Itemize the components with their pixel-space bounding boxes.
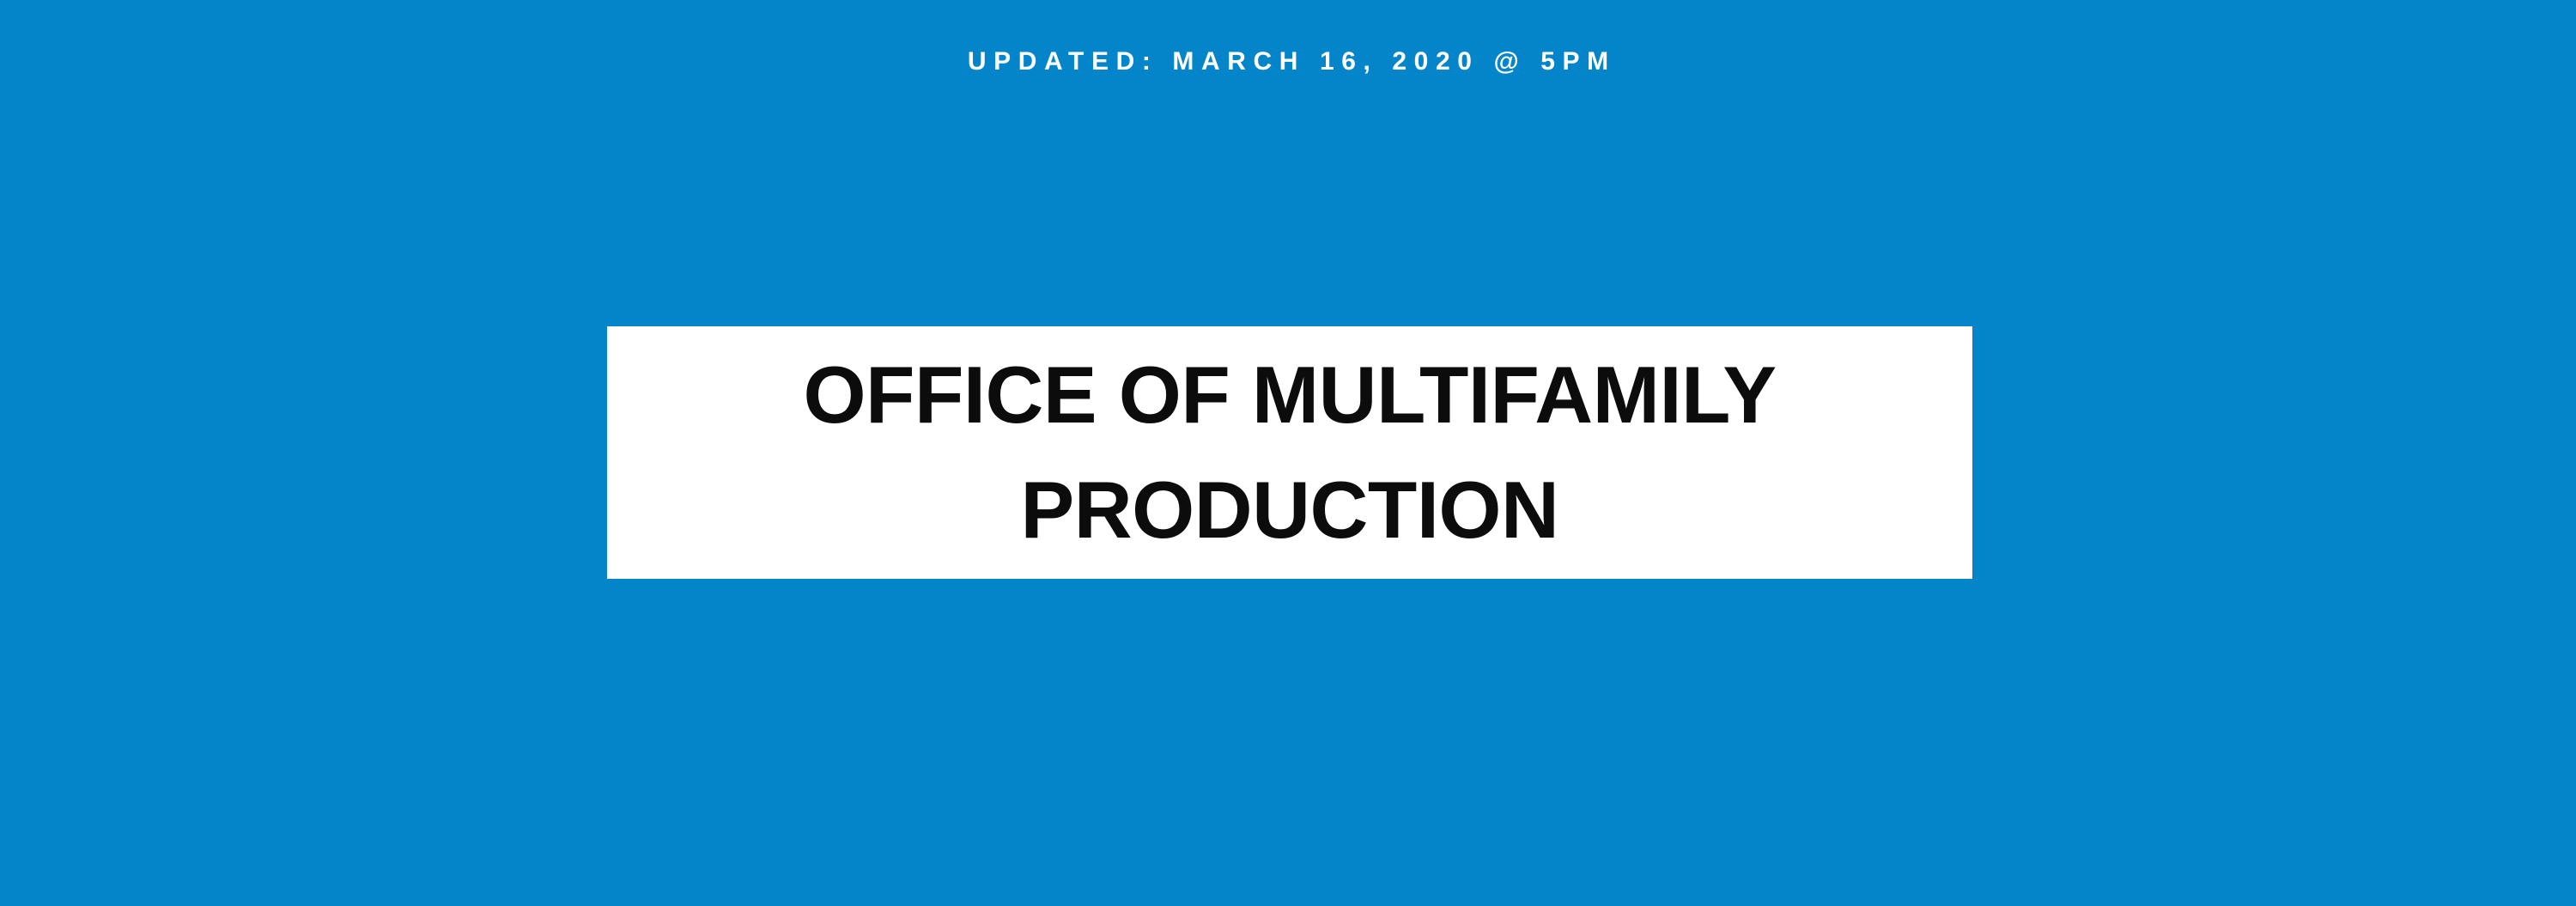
title-card: OFFICE OF MULTIFAMILY PRODUCTION xyxy=(607,326,1972,579)
updated-banner: UPDATED: MARCH 16, 2020 @ 5PM xyxy=(0,0,2576,103)
presentation-slide: UPDATED: MARCH 16, 2020 @ 5PM OFFICE OF … xyxy=(0,0,2576,906)
page-title: OFFICE OF MULTIFAMILY PRODUCTION xyxy=(762,337,1818,568)
updated-timestamp: UPDATED: MARCH 16, 2020 @ 5PM xyxy=(960,49,1615,75)
